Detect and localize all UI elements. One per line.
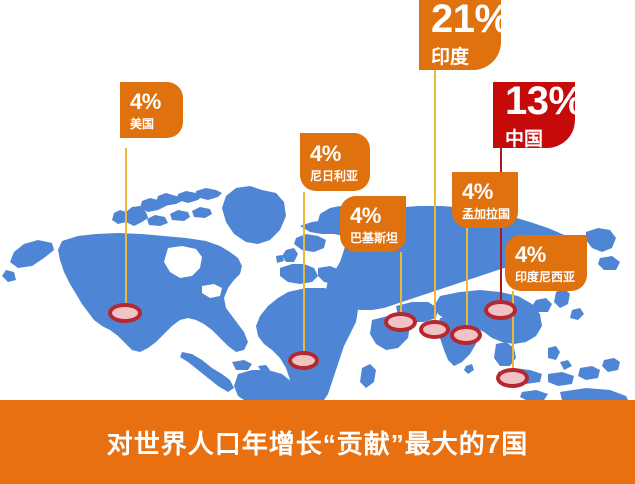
banner-title-text: 对世界人口年增长“贡献”最大的7国 xyxy=(107,424,528,461)
callout-india-value: 21% xyxy=(431,0,501,39)
marker-pakistan[interactable] xyxy=(384,312,417,332)
pole-india xyxy=(434,70,436,330)
callout-pakistan-value: 4% xyxy=(350,205,406,227)
callout-indonesia-value: 4% xyxy=(515,244,587,266)
callout-bangladesh-label: 孟加拉国 xyxy=(462,208,518,220)
map-landmasses xyxy=(2,186,628,400)
title-banner: 对世界人口年增长“贡献”最大的7国 xyxy=(0,400,635,484)
callout-bangladesh[interactable]: 4% 孟加拉国 xyxy=(452,172,518,228)
marker-usa[interactable] xyxy=(108,303,142,323)
callout-usa[interactable]: 4% 美国 xyxy=(120,82,183,138)
pole-nigeria xyxy=(303,192,305,358)
callout-china-label: 中国 xyxy=(505,130,575,149)
marker-china[interactable] xyxy=(484,300,517,320)
marker-bangladesh[interactable] xyxy=(419,320,450,339)
callout-nigeria-value: 4% xyxy=(310,143,370,165)
callout-usa-label: 美国 xyxy=(130,118,183,130)
callout-pakistan-label: 巴基斯坦 xyxy=(350,232,406,244)
callout-indonesia-label: 印度尼西亚 xyxy=(515,271,587,283)
callout-nigeria[interactable]: 4% 尼日利亚 xyxy=(300,133,370,191)
pole-usa xyxy=(125,148,127,308)
marker-nigeria[interactable] xyxy=(288,351,319,370)
infographic-root: 4% 美国 4% 尼日利亚 4% 巴基斯坦 21% 印度 13% 中国 4% 孟… xyxy=(0,0,635,484)
callout-usa-value: 4% xyxy=(130,91,183,113)
callout-india-label: 印度 xyxy=(431,48,501,67)
callout-china-value: 13% xyxy=(505,81,575,121)
callout-bangladesh-value: 4% xyxy=(462,181,518,203)
callout-nigeria-label: 尼日利亚 xyxy=(310,170,370,182)
callout-china[interactable]: 13% 中国 xyxy=(493,82,575,148)
callout-indonesia[interactable]: 4% 印度尼西亚 xyxy=(505,235,587,291)
pole-bangladesh xyxy=(466,228,468,334)
marker-india[interactable] xyxy=(450,325,482,345)
callout-pakistan[interactable]: 4% 巴基斯坦 xyxy=(340,196,406,252)
callout-india[interactable]: 21% 印度 xyxy=(419,0,501,70)
marker-indonesia[interactable] xyxy=(496,368,529,388)
